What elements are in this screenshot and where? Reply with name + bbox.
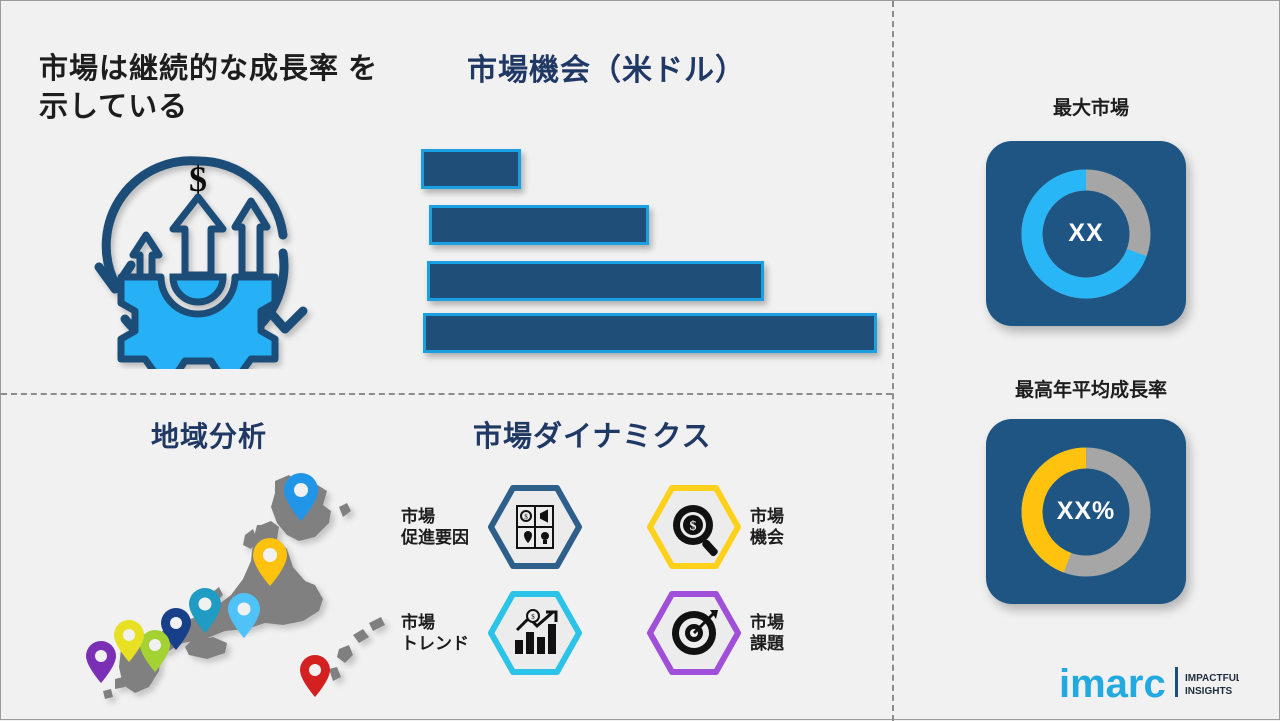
svg-text:$: $ xyxy=(531,613,535,621)
magnifier-dollar-icon: $ xyxy=(646,484,742,570)
imarc-wordmark: imarc xyxy=(1059,662,1166,706)
dynamics-label-drivers: 市場 促進要因 xyxy=(401,506,487,549)
opportunity-section-title: 市場機会（米ドル） xyxy=(467,51,867,90)
opportunity-bar-chart xyxy=(419,147,889,357)
bar-chart-growth-icon: $ xyxy=(487,590,583,676)
bar-2 xyxy=(429,205,649,245)
dynamics-label-opportunities: 市場 機会 xyxy=(750,506,836,549)
svg-text:$: $ xyxy=(524,513,528,521)
vertical-divider xyxy=(892,1,894,721)
imarc-tagline-line1: IMPACTFUL xyxy=(1185,673,1239,684)
dynamics-item-drivers[interactable]: 市場 促進要因 $ xyxy=(401,479,583,575)
dynamics-section-title: 市場ダイナミクス xyxy=(473,419,873,457)
growth-gear-arrows-icon: $ xyxy=(73,129,323,369)
dynamics-item-trends[interactable]: 市場 トレンド $ xyxy=(401,585,583,681)
pin-kyushu xyxy=(86,641,116,683)
bar-4 xyxy=(423,313,877,353)
dynamics-grid: 市場 促進要因 $ xyxy=(401,479,851,699)
pin-chubu xyxy=(228,593,260,638)
svg-text:$: $ xyxy=(189,159,207,199)
imarc-logo: imarc IMPACTFUL INSIGHTS xyxy=(1059,661,1239,707)
dynamics-item-opportunities[interactable]: $ 市場 機会 xyxy=(646,479,836,575)
dynamics-label-trends: 市場 トレンド xyxy=(401,612,487,655)
dynamics-label-challenges: 市場 課題 xyxy=(750,612,836,655)
slide-canvas: 市場は継続的な成長率 を示している $ xyxy=(0,0,1280,720)
largest-market-value: XX xyxy=(1011,159,1161,309)
horizontal-divider xyxy=(1,393,892,395)
regional-section-title: 地域分析 xyxy=(151,419,471,455)
cagr-card: XX% xyxy=(986,419,1186,604)
japan-map-icon xyxy=(63,463,403,708)
cagr-donut: XX% xyxy=(1011,437,1161,587)
cagr-title: 最高年平均成長率 xyxy=(951,379,1231,404)
puzzle-drivers-icon: $ xyxy=(487,484,583,570)
bar-3 xyxy=(427,261,764,301)
largest-market-donut: XX xyxy=(1011,159,1161,309)
imarc-tagline-line2: INSIGHTS xyxy=(1185,686,1233,697)
bar-1 xyxy=(421,149,521,189)
target-arrow-icon xyxy=(646,590,742,676)
growth-section-title: 市場は継続的な成長率 を示している xyxy=(39,51,399,126)
svg-text:$: $ xyxy=(690,519,697,534)
dynamics-item-challenges[interactable]: 市場 課題 xyxy=(646,585,836,681)
cagr-value: XX% xyxy=(1011,437,1161,587)
largest-market-card: XX xyxy=(986,141,1186,326)
pin-okinawa xyxy=(300,655,330,697)
largest-market-title: 最大市場 xyxy=(961,97,1221,122)
